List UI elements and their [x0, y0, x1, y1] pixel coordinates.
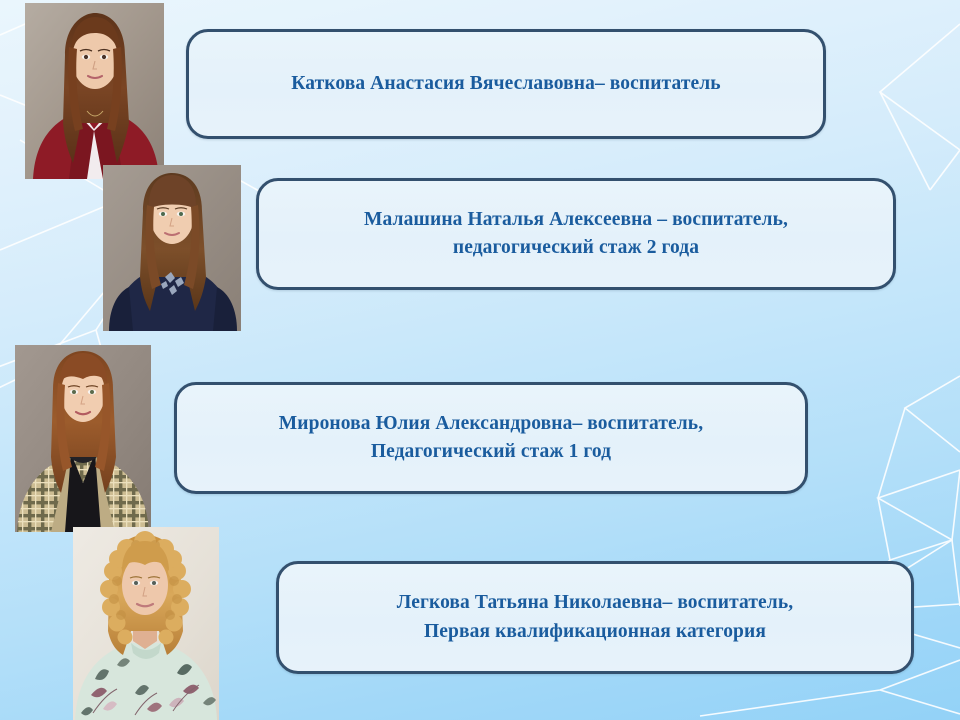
portrait-photo-mironova — [15, 345, 151, 532]
presentation-slide: Каткова Анастасия Вячеславовна– воспитат… — [0, 0, 960, 720]
portrait-photo-katkova — [25, 3, 164, 179]
teacher-label-text-mironova: Миронова Юлия Александровна– воспитатель… — [265, 410, 717, 467]
teacher-label-box-legkova[interactable]: Легкова Татьяна Николаевна– воспитатель,… — [276, 561, 914, 674]
teacher-label-text-katkova: Каткова Анастасия Вячеславовна– воспитат… — [277, 70, 734, 98]
teacher-label-box-malashina[interactable]: Малашина Наталья Алексеевна – воспитател… — [256, 178, 896, 290]
portrait-photo-malashina — [103, 165, 241, 331]
teacher-label-box-mironova[interactable]: Миронова Юлия Александровна– воспитатель… — [174, 382, 808, 494]
teacher-label-box-katkova[interactable]: Каткова Анастасия Вячеславовна– воспитат… — [186, 29, 826, 139]
portrait-photo-legkova — [73, 527, 219, 720]
teacher-label-text-legkova: Легкова Татьяна Николаевна– воспитатель,… — [383, 589, 807, 646]
teacher-label-text-malashina: Малашина Наталья Алексеевна – воспитател… — [350, 206, 802, 263]
